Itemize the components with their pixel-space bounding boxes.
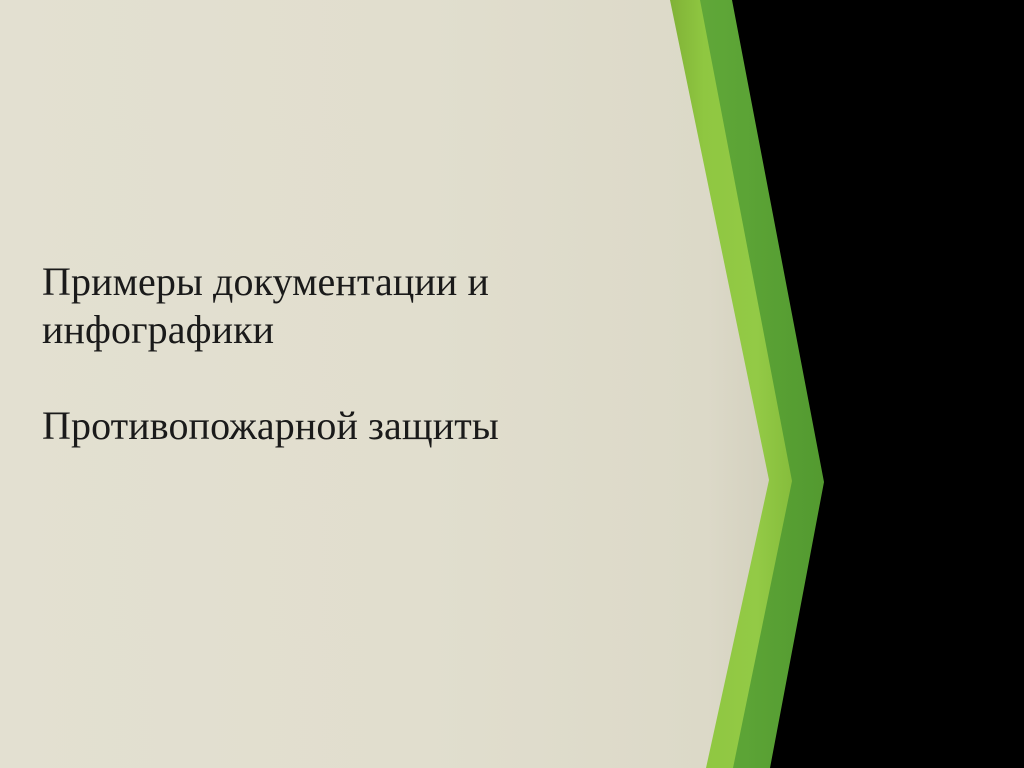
slide-title-line-1: Примеры документации и — [42, 259, 489, 304]
slide-title-line-2: инфографики — [42, 307, 274, 352]
slide-title-paragraph-2: Противопожарной защиты — [42, 402, 642, 450]
slide-title-block: Примеры документации и инфографики Проти… — [42, 258, 642, 450]
slide-title-line-3: Противопожарной защиты — [42, 403, 499, 448]
title-spacer — [42, 354, 642, 402]
presentation-slide: Примеры документации и инфографики Проти… — [0, 0, 1024, 768]
slide-title-paragraph-1: Примеры документации и инфографики — [42, 258, 642, 354]
